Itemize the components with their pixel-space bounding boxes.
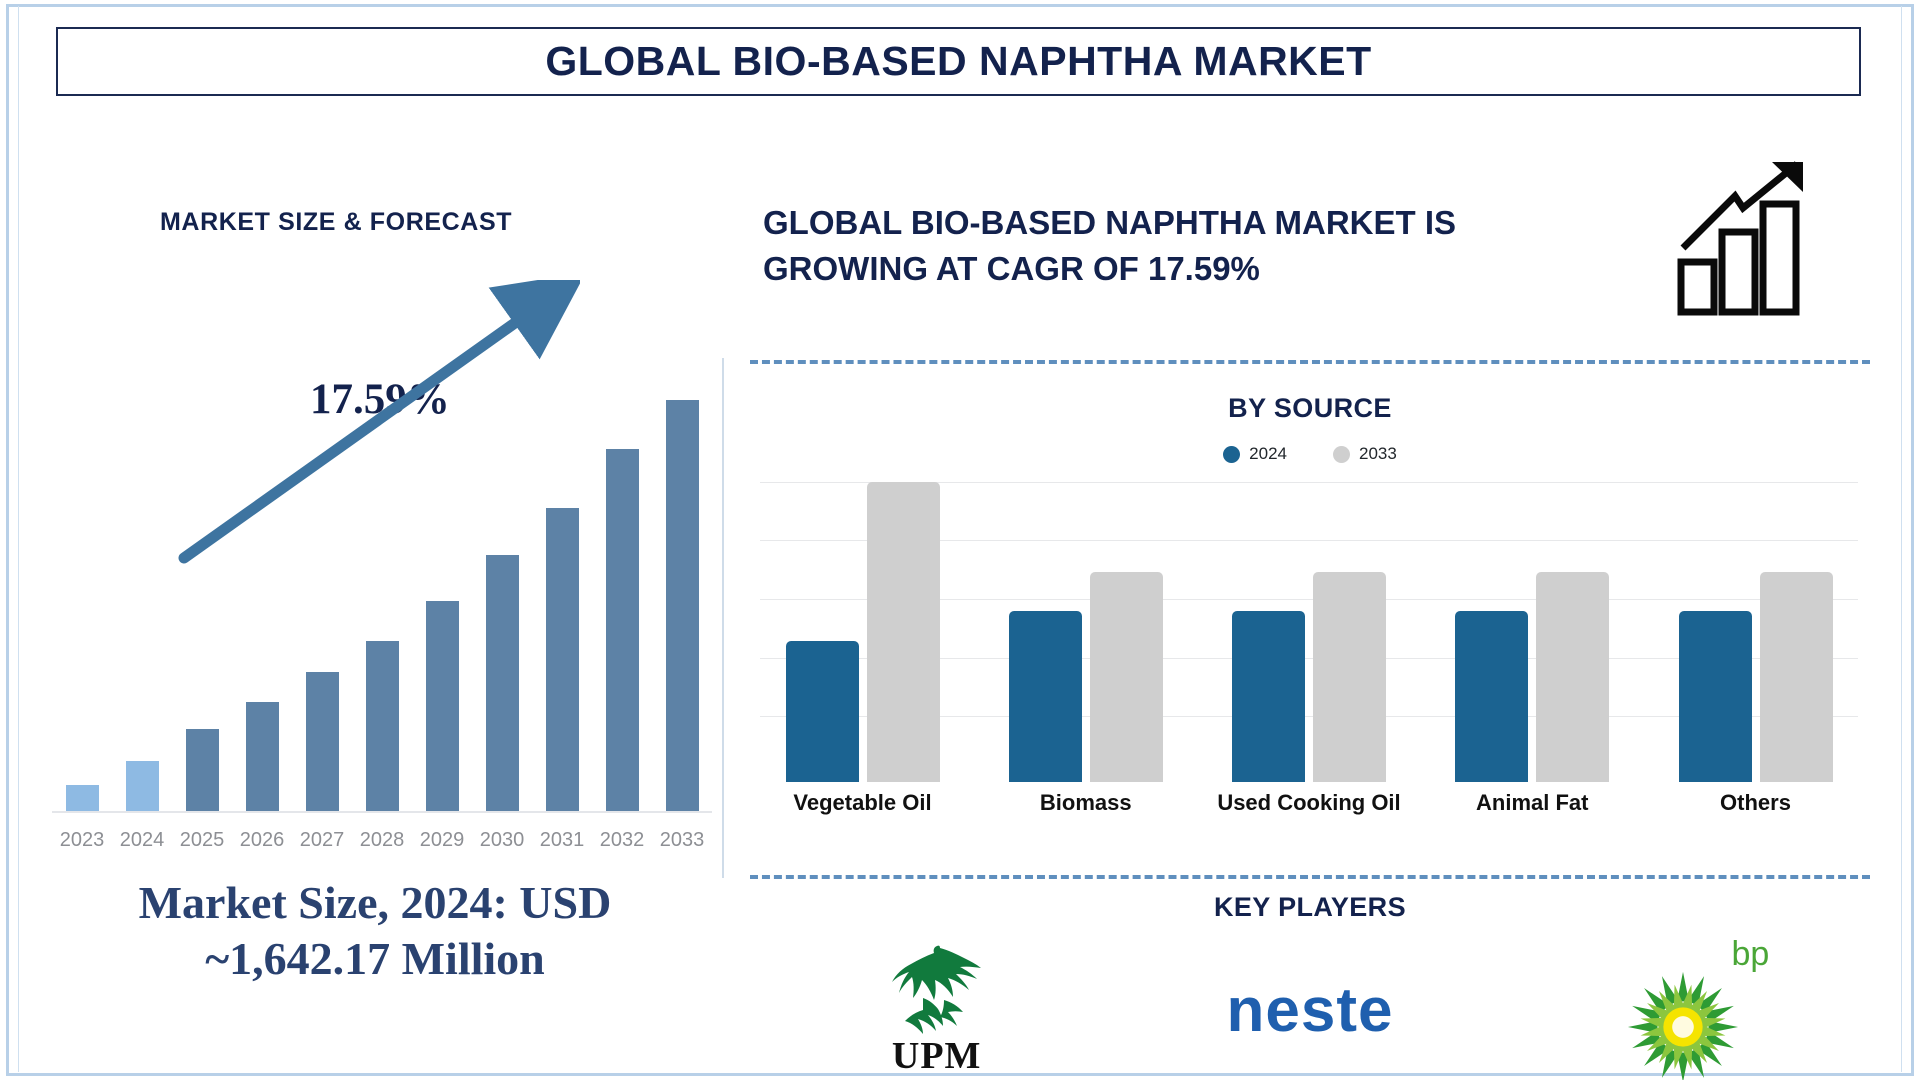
left-bar-column — [292, 322, 352, 812]
year-label: 2024 — [112, 829, 172, 852]
cagr-headline-line-1: GLOBAL BIO-BASED NAPHTHA MARKET IS — [763, 200, 1693, 246]
bar-2033-others — [1760, 572, 1833, 782]
year-label: 2033 — [652, 829, 712, 852]
bar-2033-used-cooking-oil — [1313, 572, 1386, 782]
infographic-page: GLOBAL BIO-BASED NAPHTHA MARKET MARKET S… — [0, 0, 1920, 1080]
left-bar-2026 — [246, 702, 279, 812]
bar-2033-animal-fat — [1536, 572, 1609, 782]
logo-bp: bp — [1553, 935, 1813, 1080]
market-size-value: Market Size, 2024: USD ~1,642.17 Million — [30, 875, 720, 987]
left-bar-2029 — [426, 601, 459, 812]
legend-label: 2024 — [1249, 444, 1287, 464]
page-frame-inner-right — [1901, 6, 1902, 1072]
legend-dot-icon — [1333, 446, 1350, 463]
left-bar-column — [592, 322, 652, 812]
upm-wordmark: UPM — [892, 1034, 982, 1078]
market-size-line-2: ~1,642.17 Million — [30, 931, 720, 987]
left-bar-column — [172, 322, 232, 812]
cagr-headline: GLOBAL BIO-BASED NAPHTHA MARKET IS GROWI… — [763, 200, 1693, 292]
legend-label: 2033 — [1359, 444, 1397, 464]
panel-divider — [722, 358, 724, 878]
title-banner: GLOBAL BIO-BASED NAPHTHA MARKET — [56, 27, 1861, 96]
cagr-headline-line-2: GROWING AT CAGR OF 17.59% — [763, 246, 1693, 292]
year-label: 2030 — [472, 829, 532, 852]
key-players-logos: UPM neste bp — [750, 935, 1870, 1080]
legend-dot-icon — [1223, 446, 1240, 463]
left-bar-column — [52, 322, 112, 812]
year-label: 2028 — [352, 829, 412, 852]
page-title: GLOBAL BIO-BASED NAPHTHA MARKET — [545, 38, 1371, 85]
bar-2024-used-cooking-oil — [1232, 611, 1305, 782]
bp-helios-logo — [1624, 968, 1742, 1080]
left-panel-heading: MARKET SIZE & FORECAST — [160, 208, 512, 237]
year-label: 2032 — [592, 829, 652, 852]
left-chart-year-axis: 2023 2024 2025 2026 2027 2028 2029 2030 … — [52, 829, 712, 852]
left-bar-column — [472, 322, 532, 812]
category-label-animal-fat: Animal Fat — [1430, 790, 1635, 816]
left-chart-baseline — [52, 811, 712, 813]
left-bar-2025 — [186, 729, 219, 812]
left-bar-column — [652, 322, 712, 812]
left-bar-2033 — [666, 400, 699, 812]
market-size-forecast-panel: MARKET SIZE & FORECAST 17.59% — [30, 130, 720, 1060]
left-bar-2031 — [546, 508, 579, 812]
upm-griffin-logo — [882, 942, 992, 1038]
left-bar-2030 — [486, 555, 519, 812]
bar-chart-growth-icon — [1675, 158, 1825, 318]
neste-wordmark: neste — [1227, 975, 1394, 1046]
category-label-others: Others — [1653, 790, 1858, 816]
divider-bottom — [750, 875, 1870, 879]
bar-group-vegetable-oil — [760, 482, 965, 782]
page-frame-inner-left — [18, 6, 19, 1072]
year-label: 2025 — [172, 829, 232, 852]
bar-2033-biomass — [1090, 572, 1163, 782]
bar-group-biomass — [983, 482, 1188, 782]
category-label-vegetable-oil: Vegetable Oil — [760, 790, 965, 816]
bar-group-others — [1653, 482, 1858, 782]
bar-2024-biomass — [1009, 611, 1082, 782]
bar-group-animal-fat — [1430, 482, 1635, 782]
left-bar-2027 — [306, 672, 339, 812]
by-source-bar-groups — [760, 482, 1858, 782]
left-bar-column — [352, 322, 412, 812]
left-bar-column — [232, 322, 292, 812]
legend-item-2024: 2024 — [1223, 444, 1287, 464]
divider-top — [750, 360, 1870, 364]
left-bar-2024 — [126, 761, 159, 812]
bar-2033-vegetable-oil — [867, 482, 940, 782]
left-bar-column — [532, 322, 592, 812]
right-panel: GLOBAL BIO-BASED NAPHTHA MARKET IS GROWI… — [750, 130, 1870, 1060]
left-bar-column — [412, 322, 472, 812]
by-source-bar-chart — [760, 482, 1858, 782]
key-players-title: KEY PLAYERS — [750, 892, 1870, 923]
year-label: 2029 — [412, 829, 472, 852]
by-source-category-axis: Vegetable Oil Biomass Used Cooking Oil A… — [760, 790, 1858, 816]
bar-2024-others — [1679, 611, 1752, 782]
bar-2024-animal-fat — [1455, 611, 1528, 782]
by-source-title: BY SOURCE — [750, 393, 1870, 424]
left-chart-bars — [52, 322, 712, 812]
left-bar-2028 — [366, 641, 399, 813]
year-label: 2031 — [532, 829, 592, 852]
left-bar-column — [112, 322, 172, 812]
logo-neste: neste — [1180, 975, 1440, 1046]
year-label: 2027 — [292, 829, 352, 852]
left-bar-2032 — [606, 449, 639, 812]
category-label-biomass: Biomass — [983, 790, 1188, 816]
left-bar-2023 — [66, 785, 99, 812]
logo-upm: UPM — [807, 942, 1067, 1078]
bar-group-used-cooking-oil — [1207, 482, 1412, 782]
by-source-legend: 2024 2033 — [750, 444, 1870, 464]
legend-item-2033: 2033 — [1333, 444, 1397, 464]
market-size-bar-chart: 2023 2024 2025 2026 2027 2028 2029 2030 … — [52, 300, 712, 860]
category-label-used-cooking-oil: Used Cooking Oil — [1207, 790, 1412, 816]
year-label: 2026 — [232, 829, 292, 852]
bar-2024-vegetable-oil — [786, 641, 859, 782]
year-label: 2023 — [52, 829, 112, 852]
market-size-line-1: Market Size, 2024: USD — [30, 875, 720, 931]
